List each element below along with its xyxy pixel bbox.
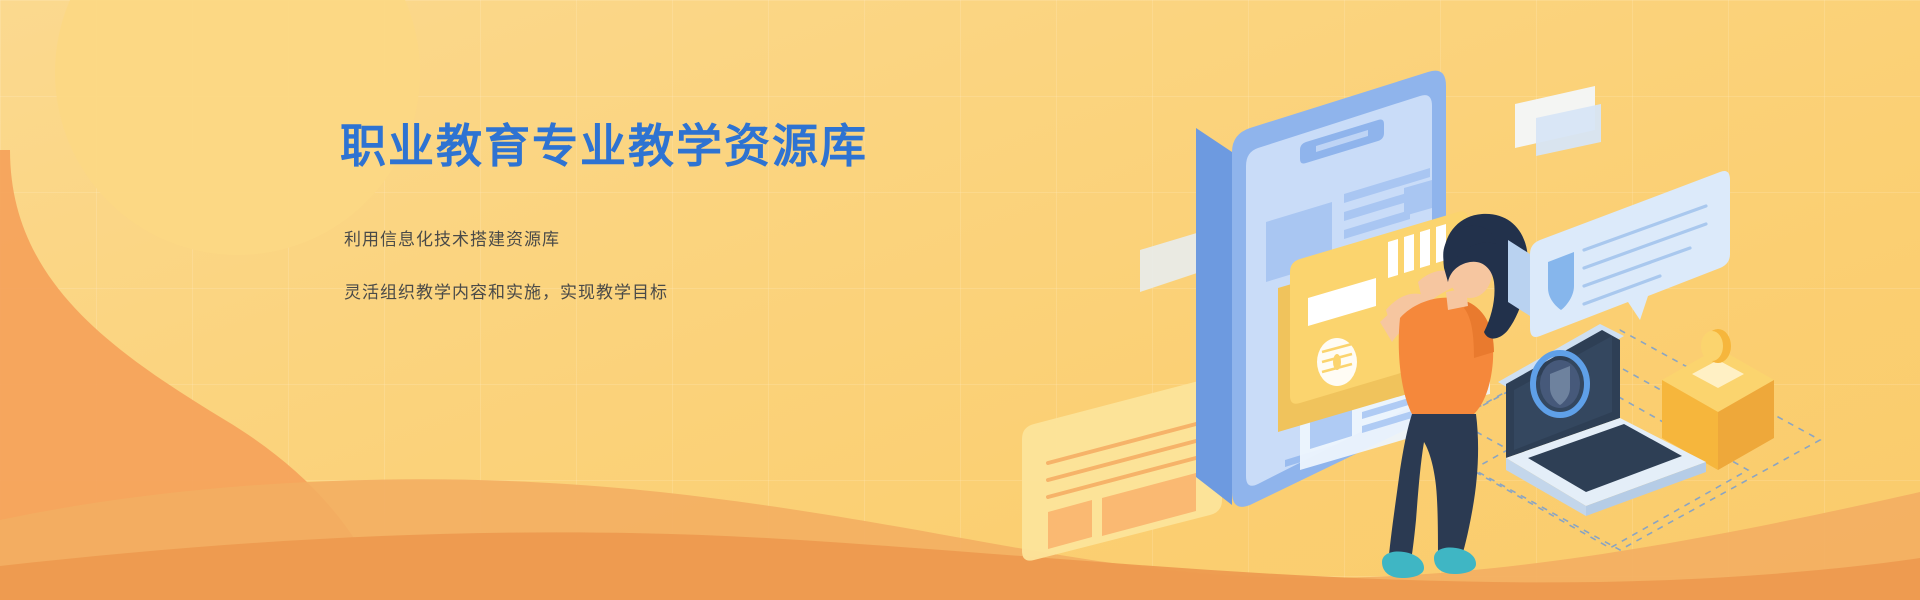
document-card [1022, 377, 1222, 560]
shoe-left [1382, 551, 1424, 578]
floating-chip-right-top [1515, 86, 1601, 156]
security-shield-icon [1533, 353, 1587, 415]
chat-bubble [1508, 171, 1730, 337]
hero-illustration [0, 0, 1920, 600]
hero-banner: 职业教育专业教学资源库 利用信息化技术搭建资源库 灵活组织教学内容和实施，实现教… [0, 0, 1920, 600]
floating-chip-left [1140, 232, 1200, 292]
shoe-right [1434, 547, 1476, 574]
card-chip-icon [1317, 338, 1357, 386]
